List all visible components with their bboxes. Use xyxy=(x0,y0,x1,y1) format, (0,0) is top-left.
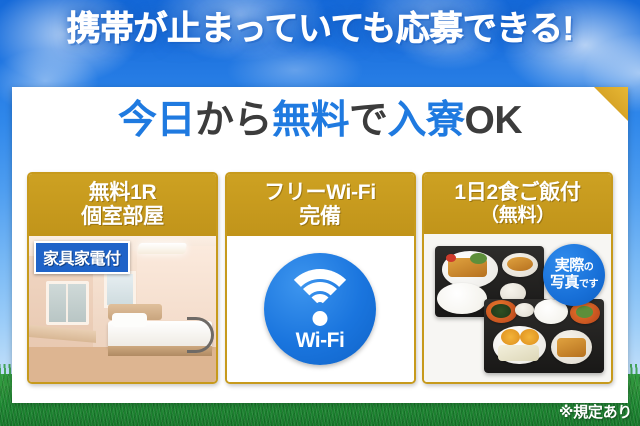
content-panel: 今日から無料で入寮OK 無料1R 個室部屋 xyxy=(12,87,628,403)
card-room-body: 家具家電付 xyxy=(29,236,216,382)
wifi-icon-label: Wi-Fi xyxy=(264,329,376,353)
card-room-title-line1: 無料1R xyxy=(31,181,214,205)
panel-title-part6: OK xyxy=(465,99,523,142)
ceiling-light-icon xyxy=(137,243,187,254)
card-meal-title-line2: （無料） xyxy=(426,205,609,226)
panel-title-part2: から xyxy=(195,99,272,142)
card-meal-body: 実際の 写真です xyxy=(424,234,611,382)
card-meal-title-line1: 1日2食ご飯付 xyxy=(426,181,609,205)
panel-title: 今日から無料で入寮OK xyxy=(12,101,628,140)
card-wifi-body: Wi-Fi xyxy=(227,236,414,382)
advertisement-banner: 携帯が止まっていても応募できる! 今日から無料で入寮OK 無料1R 個室部屋 xyxy=(0,0,640,426)
window-left xyxy=(46,281,89,325)
card-wifi-title-line2: 完備 xyxy=(229,205,412,229)
actual-photo-badge-line2-sub: です xyxy=(579,279,598,290)
actual-photo-badge-line1-sub: の xyxy=(584,262,594,273)
card-room-header: 無料1R 個室部屋 xyxy=(29,174,216,236)
actual-photo-badge-line2-main: 写真 xyxy=(550,274,579,291)
card-wifi-header: フリーWi-Fi 完備 xyxy=(227,174,414,236)
feature-card-meal: 1日2食ご飯付 （無料） xyxy=(422,172,613,384)
card-meal-header: 1日2食ご飯付 （無料） xyxy=(424,174,611,234)
panel-title-part5: 入寮 xyxy=(388,99,465,142)
wifi-icon-container: Wi-Fi xyxy=(227,236,414,382)
feature-card-room: 無料1R 個室部屋 xyxy=(27,172,218,384)
feature-card-list: 無料1R 個室部屋 xyxy=(27,172,613,384)
meal-tray-lower xyxy=(484,299,604,373)
card-room-title-line2: 個室部屋 xyxy=(31,205,214,229)
banner-headline: 携帯が止まっていても応募できる! xyxy=(0,12,640,46)
furniture-included-badge: 家具家電付 xyxy=(34,241,130,274)
actual-photo-badge: 実際の 写真です xyxy=(543,244,605,306)
panel-title-part3: 無料 xyxy=(272,99,349,142)
bed xyxy=(108,303,213,361)
feature-card-wifi: フリーWi-Fi 完備 Wi-Fi xyxy=(225,172,416,384)
card-wifi-title-line1: フリーWi-Fi xyxy=(229,181,412,205)
actual-photo-badge-line1-main: 実際 xyxy=(555,257,584,274)
footnote-disclaimer: ※規定あり xyxy=(559,401,632,422)
wifi-icon: Wi-Fi xyxy=(264,253,376,365)
window-right xyxy=(104,271,136,307)
panel-title-part1: 今日 xyxy=(118,99,195,142)
panel-title-part4: で xyxy=(349,99,388,142)
